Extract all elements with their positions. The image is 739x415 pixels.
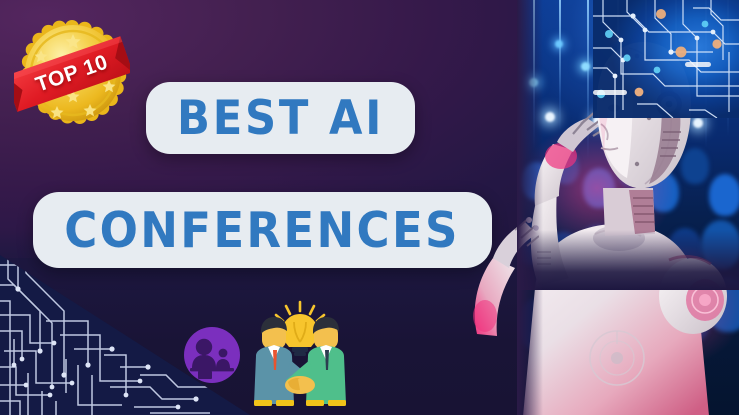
title-plate-line1: BEST AI <box>146 82 415 154</box>
clasped-hands <box>285 376 315 394</box>
title-line1: BEST AI <box>177 95 384 142</box>
business-handshake-illustration <box>236 300 364 410</box>
title-line2: CONFERENCES <box>65 206 461 255</box>
top-10-award-badge: TOP 10 <box>14 18 130 130</box>
circuit-board-photo <box>593 0 739 118</box>
speaker-at-podium-icon <box>183 326 241 384</box>
title-plate-line2: CONFERENCES <box>33 192 492 268</box>
video-thumbnail: TOP 10 BEST AI CONFERENCES <box>0 0 739 415</box>
